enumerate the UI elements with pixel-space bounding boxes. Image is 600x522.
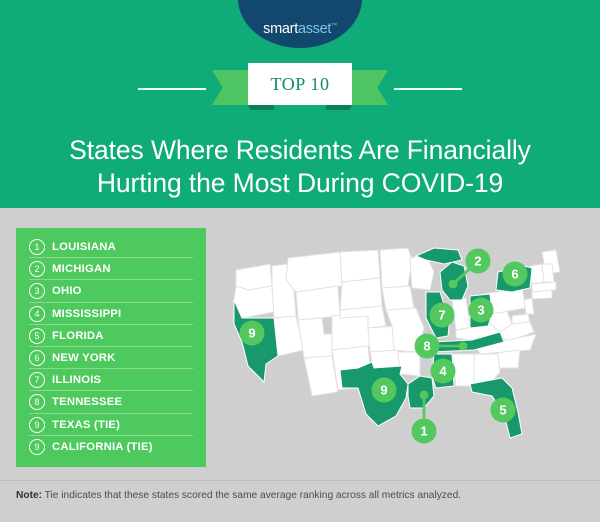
list-item[interactable]: 8 TENNESSEE [16,391,206,413]
map-marker-label: 8 [423,339,430,354]
list-item[interactable]: 9 CALIFORNIA (TIE) [16,436,206,458]
list-item[interactable]: 2 MICHIGAN [16,258,206,280]
footer-note-text: Tie indicates that these states scored t… [42,490,461,501]
rank-state-label: MICHIGAN [52,263,111,275]
smartasset-logo-badge[interactable]: smartasset™ [238,0,362,48]
map-marker-label: 3 [477,303,484,318]
header-banner: smartasset™ TOP 10 States Where Resident… [0,0,600,208]
rank-state-label: LOUISIANA [52,241,116,253]
map-marker-label: 6 [511,267,518,282]
map-marker-label: 1 [420,424,427,439]
rank-number: 4 [29,306,45,322]
map-marker-label: 9 [380,383,387,398]
map-marker-texas[interactable]: 9 [372,378,397,403]
list-item[interactable]: 5 FLORIDA [16,325,206,347]
map-marker-mississippi[interactable]: 4 [431,359,456,384]
rank-number: 7 [29,372,45,388]
ribbon-rule-left [138,88,206,90]
logo-smart-text: smart [263,21,298,37]
map-marker-california[interactable]: 9 [240,321,265,346]
map-marker-label: 5 [499,403,506,418]
rank-number: 6 [29,350,45,366]
rank-state-label: ILLINOIS [52,374,101,386]
rank-number: 9 [29,439,45,455]
ribbon-label: TOP 10 [270,74,329,95]
trademark-icon: ™ [331,23,337,29]
list-item[interactable]: 6 NEW YORK [16,347,206,369]
ranking-list: 1 LOUISIANA 2 MICHIGAN 3 OHIO 4 MISSISSI… [16,228,206,467]
map-marker-new-york[interactable]: 6 [503,262,528,287]
map-marker-florida[interactable]: 5 [491,398,516,423]
map-marker-label: 2 [474,254,481,269]
footer-note: Note: Tie indicates that these states sc… [16,489,586,503]
page-title-line-1: States Where Residents Are Financially [0,134,600,167]
list-item[interactable]: 1 LOUISIANA [16,236,206,258]
infographic-page: smartasset™ TOP 10 States Where Resident… [0,0,600,522]
footer-note-prefix: Note: [16,490,42,501]
rank-state-label: NEW YORK [52,352,116,364]
rank-number: 8 [29,394,45,410]
rank-number: 2 [29,261,45,277]
list-item[interactable]: 3 OHIO [16,280,206,302]
rank-state-label: TEXAS (TIE) [52,419,120,431]
list-item[interactable]: 7 ILLINOIS [16,369,206,391]
rank-number: 5 [29,328,45,344]
rank-state-label: MISSISSIPPI [52,308,121,320]
map-marker-label: 7 [438,308,445,323]
rank-state-label: OHIO [52,285,82,297]
rank-state-label: TENNESSEE [52,396,122,408]
map-marker-label: 4 [439,364,447,379]
rank-number: 9 [29,417,45,433]
ribbon-fold-left [248,105,274,110]
logo-wordmark: smartasset™ [263,21,337,37]
map-marker-illinois[interactable]: 7 [430,303,455,328]
us-choropleth-map: 2 6 3 7 [212,238,590,476]
page-title-line-2: Hurting the Most During COVID-19 [0,167,600,200]
list-item[interactable]: 9 TEXAS (TIE) [16,414,206,436]
rank-number: 1 [29,239,45,255]
ribbon-rule-right [394,88,462,90]
ribbon-center-box: TOP 10 [248,63,352,105]
logo-asset-text: asset [298,21,331,37]
page-title: States Where Residents Are Financially H… [0,134,600,200]
rank-number: 3 [29,283,45,299]
map-marker-label: 9 [248,326,255,341]
top10-ribbon: TOP 10 [0,63,600,109]
footer-divider [0,480,600,481]
list-item[interactable]: 4 MISSISSIPPI [16,303,206,325]
rank-state-label: CALIFORNIA (TIE) [52,441,153,453]
rank-state-label: FLORIDA [52,330,104,342]
map-marker-ohio[interactable]: 3 [469,298,494,323]
ribbon-fold-right [326,105,352,110]
